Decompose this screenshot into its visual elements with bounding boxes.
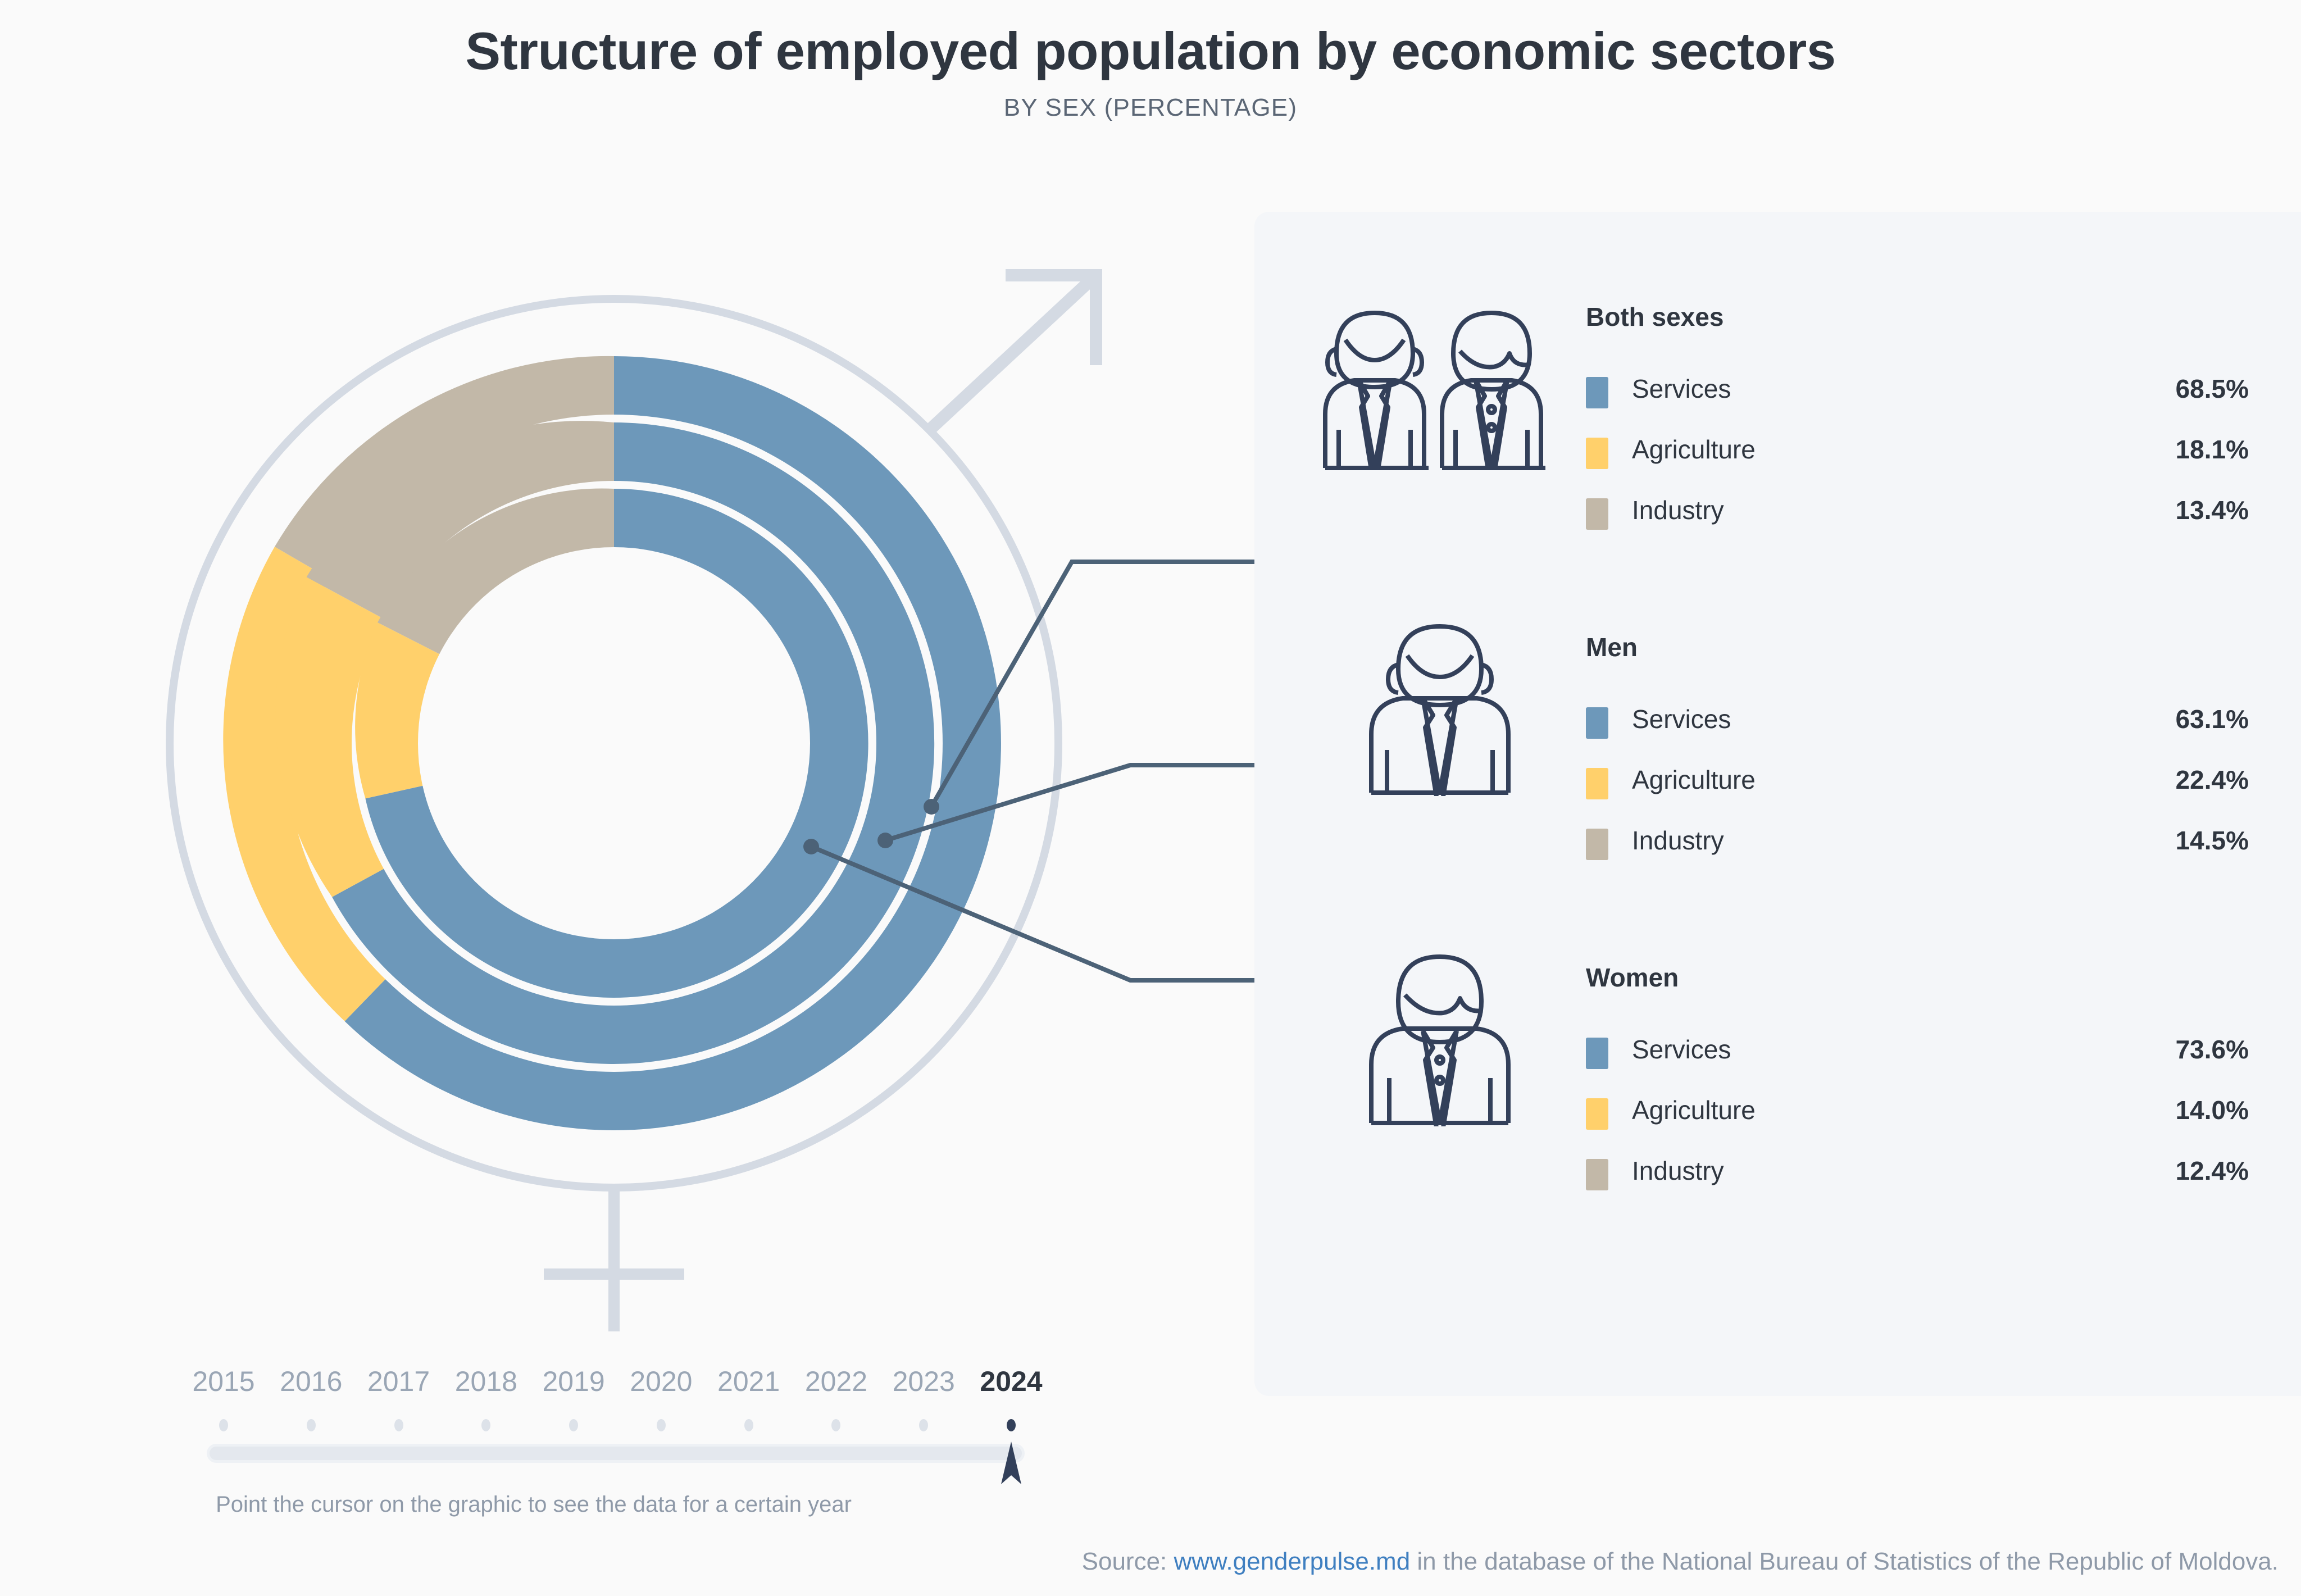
- year-dot-2020[interactable]: [657, 1419, 666, 1431]
- year-dot-2023[interactable]: [919, 1419, 928, 1431]
- legend-value-services: 73.6%: [1586, 1034, 2249, 1065]
- legend-value-industry: 14.5%: [1586, 825, 2249, 856]
- legend-group-title: Women: [1586, 962, 1679, 993]
- legend-value-agriculture: 14.0%: [1586, 1095, 2249, 1125]
- year-label-2015[interactable]: 2015: [192, 1365, 254, 1398]
- timeline-track[interactable]: [207, 1444, 1025, 1463]
- year-dot-2015[interactable]: [219, 1419, 228, 1431]
- year-dot-2022[interactable]: [831, 1419, 840, 1431]
- year-label-2018[interactable]: 2018: [455, 1365, 517, 1398]
- year-label-2022[interactable]: 2022: [805, 1365, 867, 1398]
- year-label-2017[interactable]: 2017: [367, 1365, 430, 1398]
- legend-panel: Both sexes Services 68.5% Agriculture 18…: [1254, 212, 2301, 1396]
- year-label-2016[interactable]: 2016: [280, 1365, 342, 1398]
- year-label-2020[interactable]: 2020: [630, 1365, 692, 1398]
- legend-value-agriculture: 18.1%: [1586, 434, 2249, 465]
- year-labels[interactable]: 2015201620172018201920202021202220232024: [0, 1365, 1067, 1404]
- man-icon: [1356, 611, 1524, 799]
- woman-icon: [1356, 941, 1524, 1129]
- legend-value-agriculture: 22.4%: [1586, 765, 2249, 795]
- year-dot-2016[interactable]: [307, 1419, 316, 1431]
- source-prefix: Source:: [1082, 1548, 1174, 1575]
- timeline-hint: Point the cursor on the graphic to see t…: [0, 1492, 1067, 1517]
- legend-group-title: Men: [1586, 632, 1638, 662]
- legend-value-industry: 12.4%: [1586, 1156, 2249, 1186]
- year-dot-2021[interactable]: [744, 1419, 753, 1431]
- ring-women[interactable]: [355, 488, 868, 998]
- donut-chart-area: [0, 0, 1258, 1197]
- year-dot-2024[interactable]: [1007, 1419, 1016, 1431]
- year-label-2019[interactable]: 2019: [542, 1365, 604, 1398]
- year-dots[interactable]: [0, 1419, 1067, 1433]
- source-footer: Source: www.genderpulse.md in the databa…: [0, 1548, 2301, 1576]
- legend-value-industry: 13.4%: [1586, 495, 2249, 525]
- legend-value-services: 63.1%: [1586, 704, 2249, 734]
- legend-value-services: 68.5%: [1586, 374, 2249, 404]
- source-suffix: in the database of the National Bureau o…: [1410, 1548, 2279, 1575]
- year-dot-2019[interactable]: [569, 1419, 578, 1431]
- year-dot-2017[interactable]: [394, 1419, 403, 1431]
- year-dot-2018[interactable]: [481, 1419, 490, 1431]
- year-label-2021[interactable]: 2021: [717, 1365, 780, 1398]
- two-people-icon: [1316, 302, 1563, 473]
- year-label-2023[interactable]: 2023: [893, 1365, 955, 1398]
- year-timeline[interactable]: 2015201620172018201920202021202220232024…: [0, 1365, 1258, 1511]
- source-link[interactable]: www.genderpulse.md: [1174, 1548, 1411, 1575]
- mars-symbol-icon: [930, 275, 1096, 430]
- legend-group-title: Both sexes: [1586, 302, 1724, 332]
- multi-ring-donut-chart[interactable]: [0, 191, 1258, 1348]
- year-label-2024[interactable]: 2024: [980, 1365, 1042, 1398]
